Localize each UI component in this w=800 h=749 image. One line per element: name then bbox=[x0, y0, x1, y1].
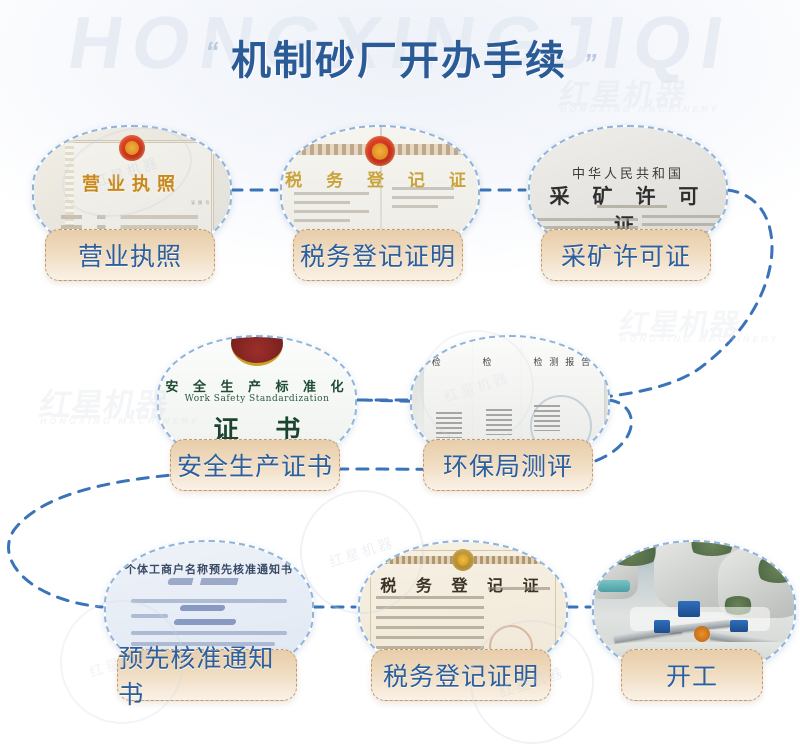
label-card-pre-approval-notice[interactable]: 预先核准通知书 bbox=[117, 649, 296, 701]
doc-title-1: 检 bbox=[432, 355, 443, 368]
quote-open-icon: “ bbox=[206, 36, 217, 67]
label-card-safety-certificate[interactable]: 安全生产证书 bbox=[170, 439, 341, 491]
label-card-tax-registration-2[interactable]: 税务登记证明 bbox=[371, 649, 550, 701]
doc-title-3: 检 测 报 告 bbox=[534, 355, 593, 368]
label-card-business-license[interactable]: 营业执照 bbox=[45, 229, 216, 281]
label-card-mining-permit[interactable]: 采矿许可证 bbox=[541, 229, 712, 281]
label-text: 税务登记证明 bbox=[300, 237, 456, 273]
label-card-start-production[interactable]: 开工 bbox=[621, 649, 763, 701]
flow-node-inspection-report[interactable]: 检 检 检 测 报 告 环保局测评 bbox=[410, 335, 606, 491]
label-card-tax-registration-1[interactable]: 税务登记证明 bbox=[293, 229, 464, 281]
flow-node-pre-approval-notice[interactable]: 个体工商户名称预先核准通知书 预先核准通知书 bbox=[104, 540, 310, 701]
label-text: 开工 bbox=[666, 657, 718, 693]
national-emblem-icon bbox=[365, 136, 395, 166]
doc-title-cn: 安 全 生 产 标 准 化 bbox=[159, 376, 355, 395]
flow-node-tax-registration-1[interactable]: 税 务 登 记 证 税务登记证明 bbox=[280, 125, 476, 281]
flow-node-business-license[interactable]: 营业执照 证 照 号 营业执照 bbox=[32, 125, 228, 281]
flow-node-tax-registration-2[interactable]: 税 务 登 记 证 税务登记证明 bbox=[358, 540, 564, 701]
label-text: 环保局测评 bbox=[443, 447, 573, 483]
label-text: 预先核准通知书 bbox=[118, 639, 295, 711]
label-card-inspection-report[interactable]: 环保局测评 bbox=[423, 439, 594, 491]
quote-close-icon: ” bbox=[583, 48, 594, 79]
crest-icon bbox=[231, 337, 283, 366]
national-emblem-icon bbox=[530, 127, 550, 153]
flow-node-mining-permit[interactable]: 中华人民共和国 采 矿 许 可 证 采矿许可证 bbox=[528, 125, 724, 281]
doc-title-en: Work Safety Standardization bbox=[159, 394, 355, 404]
national-emblem-icon bbox=[119, 135, 145, 161]
doc-title-2: 检 bbox=[483, 355, 494, 368]
doc-caption: 证 照 号 bbox=[191, 200, 210, 206]
label-text: 营业执照 bbox=[78, 237, 182, 273]
flow-node-start-production[interactable]: 开工 bbox=[592, 540, 792, 701]
label-text: 采矿许可证 bbox=[561, 237, 691, 273]
page-title-text: 机制砂厂开办手续 bbox=[231, 28, 567, 86]
page-title: “ 机制砂厂开办手续 ” bbox=[0, 28, 800, 86]
flow-node-safety-certificate[interactable]: 安 全 生 产 标 准 化 Work Safety Standardizatio… bbox=[157, 335, 353, 491]
doc-title: 个体工商户名称预先核准通知书 bbox=[106, 561, 312, 577]
infographic-stage: HONGXINGJIQI “ 机制砂厂开办手续 ” 营业执照 bbox=[0, 0, 800, 749]
national-emblem-icon bbox=[452, 549, 474, 571]
label-text: 税务登记证明 bbox=[383, 657, 539, 693]
doc-title: 营业执照 bbox=[34, 170, 230, 196]
label-text: 安全生产证书 bbox=[177, 447, 333, 483]
